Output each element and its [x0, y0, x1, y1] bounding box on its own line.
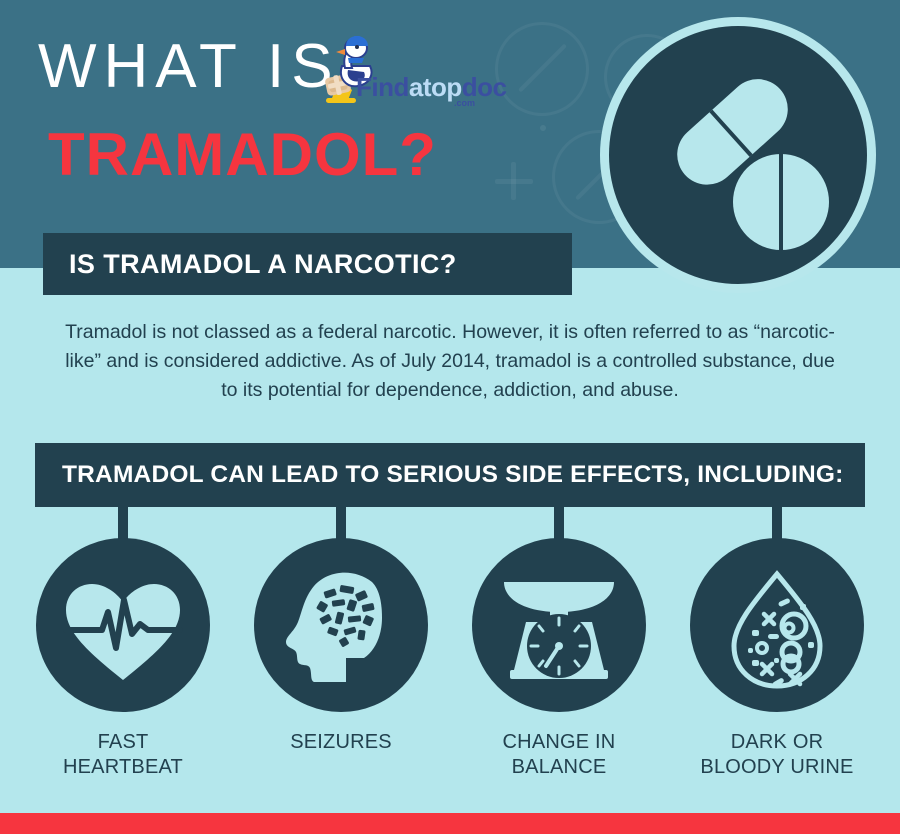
- narcotic-question-banner: IS TRAMADOL A NARCOTIC?: [43, 233, 572, 295]
- decorative-circle-slash-1: [495, 22, 589, 116]
- infographic-canvas: WHAT IS TRAMADOL?: [0, 0, 900, 834]
- pills-icon: [609, 26, 867, 284]
- weighing-scale-icon: [472, 538, 646, 712]
- urine-droplet-icon: [690, 538, 864, 712]
- footer-bar: [0, 816, 900, 834]
- logo-dotcom-suffix: .com: [454, 98, 475, 108]
- side-effect-label: SEIZURES: [232, 730, 450, 755]
- side-effect-label-line2: BLOODY URINE: [668, 755, 886, 780]
- side-effect-label-line1: FAST: [14, 730, 232, 755]
- logo-wordmark: Findatopdoc: [356, 74, 507, 100]
- side-effects-list: FAST HEARTBEAT: [0, 505, 900, 795]
- side-effect-label: FAST HEARTBEAT: [14, 730, 232, 780]
- side-effect-label-line1: SEIZURES: [232, 730, 450, 755]
- logo-word-find: Find: [356, 72, 409, 102]
- side-effect-label-line2: HEARTBEAT: [14, 755, 232, 780]
- decorative-plus-icon: [495, 162, 533, 200]
- side-effect-icon-circle: [472, 538, 646, 712]
- body-paragraph: Tramadol is not classed as a federal nar…: [55, 318, 845, 405]
- hero-badge-disc: [609, 26, 867, 284]
- side-effect-icon-circle: [36, 538, 210, 712]
- side-effect-label-line1: CHANGE IN: [450, 730, 668, 755]
- side-effects-banner: TRAMADOL CAN LEAD TO SERIOUS SIDE EFFECT…: [35, 443, 865, 507]
- side-effect-label: CHANGE IN BALANCE: [450, 730, 668, 780]
- narcotic-question-text: IS TRAMADOL A NARCOTIC?: [69, 249, 457, 280]
- page-title-line1: WHAT IS: [38, 36, 340, 98]
- side-effects-banner-text: TRAMADOL CAN LEAD TO SERIOUS SIDE EFFECT…: [62, 461, 843, 489]
- page-title-line2: TRAMADOL?: [48, 125, 437, 185]
- decorative-dot: [540, 125, 546, 131]
- side-effect-icon-circle: [690, 538, 864, 712]
- side-effect-label-line1: DARK OR: [668, 730, 886, 755]
- side-effect-label-line2: BALANCE: [450, 755, 668, 780]
- brain-head-icon: [254, 538, 428, 712]
- heart-ecg-icon: [36, 538, 210, 712]
- side-effect-icon-circle: [254, 538, 428, 712]
- side-effect-label: DARK OR BLOODY URINE: [668, 730, 886, 780]
- hero-pills-badge: [600, 17, 876, 293]
- findatopdoc-logo[interactable]: Findatopdoc .com: [312, 36, 492, 110]
